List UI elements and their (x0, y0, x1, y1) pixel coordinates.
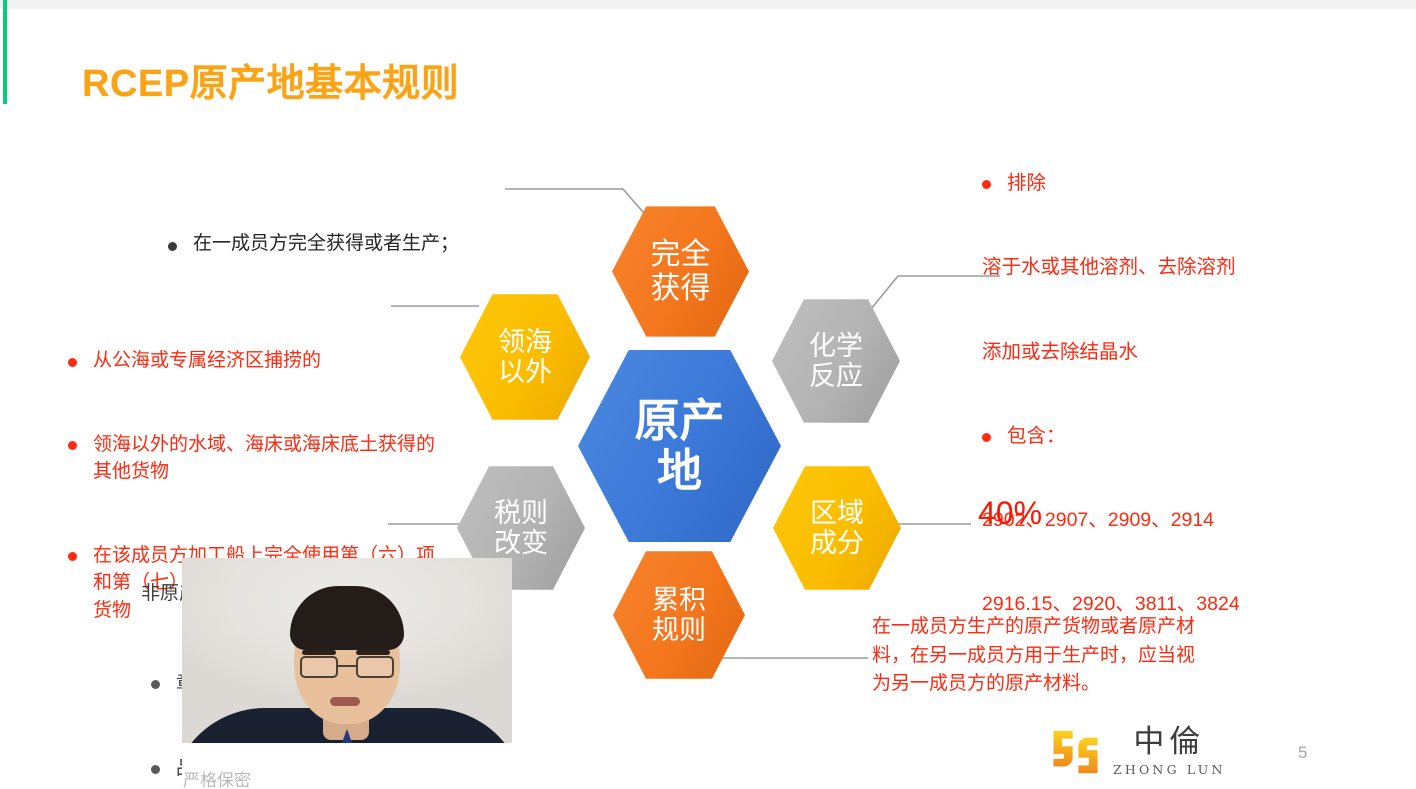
logo-pinyin-name: ZHONG LUN (1113, 762, 1226, 777)
bullet-dot-icon (168, 242, 177, 251)
hexagon-center-origin[interactable]: 原产 地 (578, 348, 781, 544)
connector-line-huaxue (862, 268, 1002, 328)
glasses-lens-right (356, 656, 394, 678)
page-title: RCEP原产地基本规则 (82, 52, 459, 107)
bullet-dot-icon (982, 433, 991, 442)
hexagon-label-line2: 地 (657, 446, 702, 496)
presenter-mouth (330, 697, 360, 706)
bullet-dot-icon (68, 358, 77, 367)
bullet-item: 包含： (982, 422, 1240, 450)
hexagon-label-line2: 改变 (494, 528, 548, 558)
connector-line-quyu (893, 518, 973, 530)
hexagon-regional-value-content[interactable]: 区域 成分 (773, 465, 901, 591)
page-number: 5 (1298, 743, 1307, 763)
company-logo: 中倫 ZHONG LUN (1051, 727, 1226, 777)
hexagon-label-line1: 原产 (634, 396, 724, 446)
glasses-lens-left (300, 656, 338, 678)
bullet-label: 领海以外的水域、海床或海床底土获得的其他货物 (93, 431, 448, 486)
zhonglun-logo-icon (1051, 729, 1100, 775)
hexagon-label-line2: 反应 (809, 361, 863, 391)
hexagon-label-line1: 税则 (494, 498, 548, 528)
bullet-label: 包含： (1007, 422, 1066, 450)
logo-wordmark: 中倫 ZHONG LUN (1113, 727, 1226, 777)
hexagon-label-line2: 规则 (652, 615, 706, 645)
note-line: 溶于水或其他溶剂、去除溶剂 (982, 253, 1240, 281)
regional-value-percent: 40% (978, 495, 1042, 532)
bullet-dot-icon (151, 765, 160, 774)
presentation-slide: RCEP原产地基本规则 完全 获得 领海 以外 化学 反应 原产 地 税则 改变 (0, 0, 1416, 789)
bullet-label: 在一成员方完全获得或者生产； (193, 231, 459, 258)
bullet-dot-icon (982, 180, 991, 189)
bullet-label: 排除 (1007, 169, 1046, 197)
bullet-dot-icon (68, 552, 77, 561)
left-green-accent-bar (3, 0, 7, 104)
bullet-dot-icon (68, 441, 77, 450)
hexagon-label-line1: 领海 (498, 327, 552, 357)
top-gray-band (0, 0, 1416, 9)
presenter-glasses-icon (300, 656, 394, 678)
glasses-bridge (338, 665, 356, 667)
bullet-item: 从公海或专属经济区捕捞的 (68, 347, 448, 375)
connector-line-leiji (720, 652, 870, 664)
hexagon-label-line1: 区域 (810, 498, 864, 528)
hexagon-label-line1: 累积 (652, 585, 706, 615)
bullet-item: 排除 (982, 169, 1240, 197)
bullet-item: 领海以外的水域、海床或海床底土获得的其他货物 (68, 431, 448, 486)
confidential-watermark: 严格保密 (183, 766, 251, 789)
presenter-video-overlay[interactable] (182, 558, 512, 789)
bullet-label: 从公海或专属经济区捕捞的 (93, 347, 448, 375)
presenter-eyebrow-right (356, 650, 390, 655)
note-bottom-right: 在一成员方生产的原产货物或者原产材料，在另一成员方用于生产时，应当视为另一成员方… (872, 613, 1212, 699)
presenter-eyebrow-left (302, 650, 336, 655)
logo-chinese-name: 中倫 (1133, 727, 1205, 758)
bullet-dot-icon (151, 680, 160, 689)
bullet-item: 在一成员方完全获得或者生产； (168, 231, 459, 258)
hexagon-label-line2: 以外 (498, 357, 552, 387)
hexagon-label-line2: 成分 (810, 528, 864, 558)
note-top-right: 排除 溶于水或其他溶剂、去除溶剂 添加或去除结晶水 包含： 2902、2907、… (982, 113, 1240, 675)
hexagon-label-line2: 获得 (651, 272, 711, 306)
hexagon-label-line1: 化学 (809, 331, 863, 361)
note-line: 添加或去除结晶水 (982, 338, 1240, 366)
hexagon-label-line1: 完全 (651, 238, 711, 272)
